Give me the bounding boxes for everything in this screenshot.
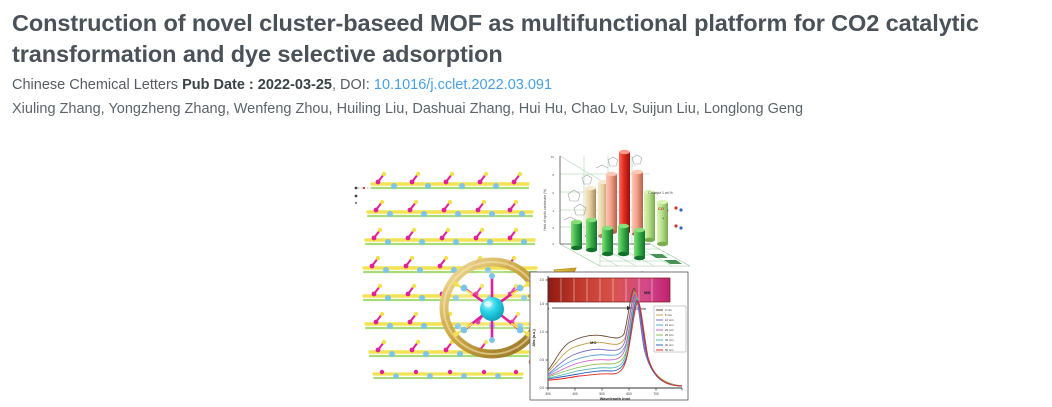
central-metal-sphere xyxy=(480,297,504,321)
svg-text:Abs (a.u.): Abs (a.u.) xyxy=(532,329,536,347)
svg-text:40 min: 40 min xyxy=(665,343,674,347)
svg-text:600: 600 xyxy=(626,392,632,396)
pubdate-value: 2022-03-25 xyxy=(258,77,332,93)
svg-text:1.0: 1.0 xyxy=(540,330,545,334)
svg-text:5 min: 5 min xyxy=(665,313,672,317)
svg-text:700: 700 xyxy=(653,392,659,396)
svg-text:CO: CO xyxy=(658,206,664,211)
authors-list: Xiuling Zhang, Yongzheng Zhang, Wenfeng … xyxy=(12,98,1042,120)
paper-record: Construction of novel cluster-baseed MOF… xyxy=(0,0,1052,121)
svg-text:0.5: 0.5 xyxy=(540,358,545,362)
doi-link[interactable]: 10.1016/j.cclet.2022.03.091 xyxy=(374,77,552,93)
dye-adsorption-spectra-panel[interactable]: t 25 min 300 400 500 xyxy=(530,272,688,401)
graphical-abstract-image[interactable]: 10 8 6 4 2 0 Yield of cyclic carbonate (… xyxy=(332,148,692,403)
svg-text:MB: MB xyxy=(644,290,650,295)
svg-text:10 min: 10 min xyxy=(665,318,674,322)
svg-text:1.5: 1.5 xyxy=(540,302,545,306)
svg-text:Catalyst 1 wt.%: Catalyst 1 wt.% xyxy=(648,191,674,195)
svg-text:MO: MO xyxy=(590,340,596,345)
svg-text:Yield of cyclic carbonate (%): Yield of cyclic carbonate (%) xyxy=(543,189,547,232)
svg-text:50 min: 50 min xyxy=(665,348,674,352)
svg-text:10: 10 xyxy=(551,155,555,159)
svg-text:400: 400 xyxy=(572,392,578,396)
pubdate-label: Pub Date : xyxy=(182,77,254,93)
svg-text:300: 300 xyxy=(545,392,551,396)
svg-text:30 min: 30 min xyxy=(665,338,674,342)
doi-label: DOI: xyxy=(340,77,370,93)
svg-text:25 min: 25 min xyxy=(665,333,674,337)
journal-name: Chinese Chemical Letters xyxy=(12,77,178,93)
page-title[interactable]: Construction of novel cluster-baseed MOF… xyxy=(12,8,1042,71)
svg-text:2.0: 2.0 xyxy=(540,278,545,282)
svg-text:20 min: 20 min xyxy=(665,328,674,332)
svg-text:0.0: 0.0 xyxy=(540,386,545,390)
spectra-legend: 0 min 5 min 10 min 15 min 20 min 25 min … xyxy=(654,306,686,352)
paper-record-page: Construction of novel cluster-baseed MOF… xyxy=(0,0,1052,407)
svg-text:500: 500 xyxy=(599,392,605,396)
publication-meta-line: Chinese Chemical Letters Pub Date : 2022… xyxy=(12,75,1042,97)
svg-text:+: + xyxy=(662,216,665,221)
svg-text:0 min: 0 min xyxy=(665,308,672,312)
svg-text:15 min: 15 min xyxy=(665,323,674,327)
